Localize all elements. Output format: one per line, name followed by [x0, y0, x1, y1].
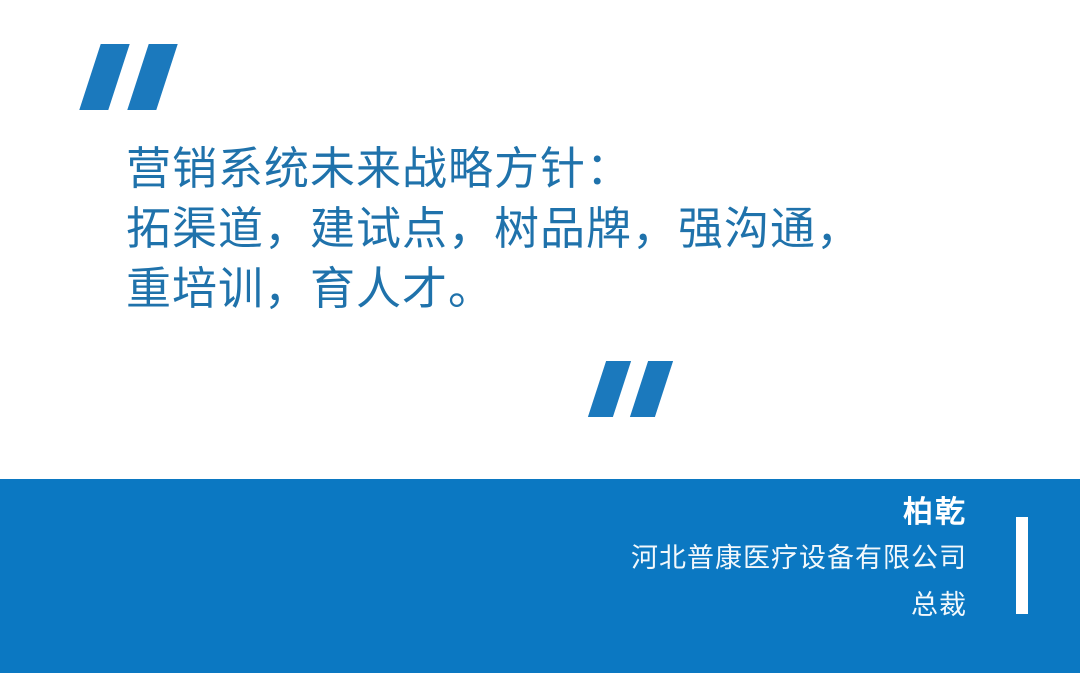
open-quote-icon: [84, 44, 176, 110]
speaker-title: 总裁: [207, 583, 967, 629]
quote-line-1: 营销系统未来战略方针：: [126, 139, 1026, 199]
quote-body: 营销系统未来战略方针： 拓渠道，建试点，树品牌，强沟通， 重培训，育人才。: [126, 139, 1026, 319]
speaker-name: 柏乾: [207, 491, 967, 535]
vertical-rule-divider: [1016, 517, 1028, 614]
attribution-content: 柏乾 河北普康医疗设备有限公司 总裁: [207, 491, 967, 629]
open-quote-stroke-1: [79, 44, 129, 110]
close-quote-icon: [593, 361, 675, 417]
quote-slide: 营销系统未来战略方针： 拓渠道，建试点，树品牌，强沟通， 重培训，育人才。 柏乾…: [0, 0, 1080, 673]
quote-line-2: 拓渠道，建试点，树品牌，强沟通，: [126, 199, 1026, 259]
quote-line-3: 重培训，育人才。: [126, 259, 1026, 319]
close-quote-stroke-1: [588, 361, 631, 417]
open-quote-stroke-2: [127, 44, 177, 110]
close-quote-stroke-2: [630, 361, 673, 417]
speaker-company: 河北普康医疗设备有限公司: [207, 535, 967, 583]
attribution-band: 柏乾 河北普康医疗设备有限公司 总裁: [0, 479, 1080, 673]
